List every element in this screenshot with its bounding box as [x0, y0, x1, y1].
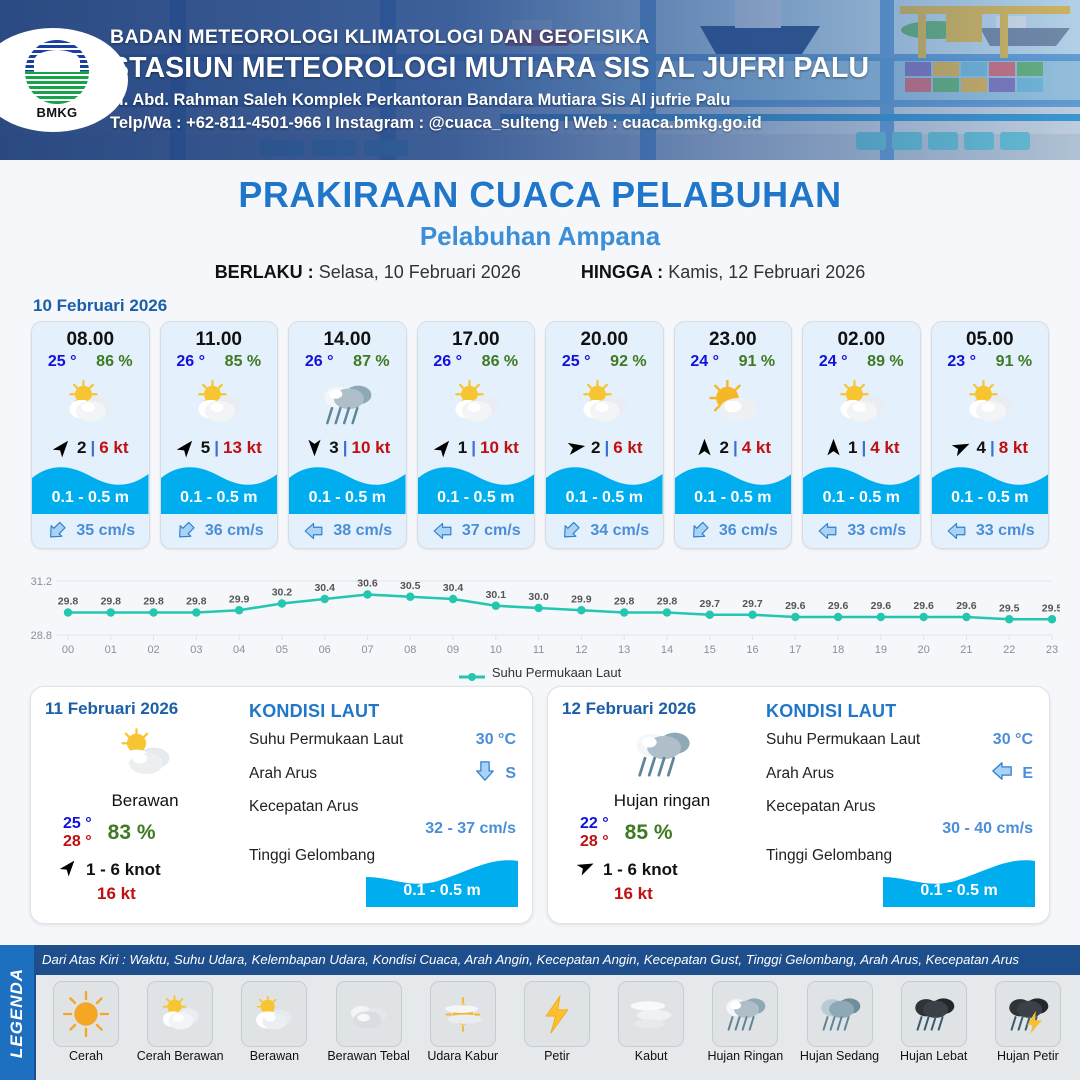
chart-legend: Suhu Permukaan Laut — [0, 665, 1080, 680]
wind-direction-arrow-icon — [576, 857, 596, 882]
svg-text:30.2: 30.2 — [272, 587, 293, 599]
svg-text:05: 05 — [276, 644, 288, 656]
wind-speed-value: 6 kt — [99, 438, 128, 458]
wind-separator: | — [90, 438, 95, 458]
svg-text:19: 19 — [875, 644, 887, 656]
svg-text:28.8: 28.8 — [31, 630, 52, 642]
bmkg-logo-mark — [25, 40, 89, 104]
valid-to-value: Kamis, 12 Februari 2026 — [668, 262, 865, 282]
svg-text:29.8: 29.8 — [143, 596, 164, 608]
card-time: 08.00 — [32, 322, 149, 353]
daily-wind-value: 1 - 6 knot — [603, 860, 678, 880]
page-title: PRAKIRAAN CUACA PELABUHAN — [0, 174, 1080, 216]
card-humidity: 92 % — [610, 353, 646, 371]
current-speed-value: 30 - 40 cm/s — [766, 820, 1033, 838]
card-temperature: 26 ° — [176, 353, 205, 371]
wind-direction-arrow-icon — [304, 437, 325, 458]
card-temp-humidity: 26 ° 85 % — [161, 353, 278, 373]
hourly-card: 20.00 25 ° 92 % 2 | 6 kt 0.1 — [545, 321, 664, 549]
svg-text:30.1: 30.1 — [486, 589, 507, 601]
card-wave: 0.1 - 0.5 m — [675, 462, 792, 514]
svg-text:29.9: 29.9 — [571, 593, 592, 605]
wave-height-value: 0.1 - 0.5 m — [803, 489, 920, 507]
card-current: 35 cm/s — [32, 514, 149, 548]
card-current: 33 cm/s — [803, 514, 920, 548]
lightning-icon — [524, 981, 590, 1047]
svg-text:29.8: 29.8 — [58, 596, 79, 608]
validity-row: BERLAKU : Selasa, 10 Februari 2026 HINGG… — [0, 262, 1080, 283]
current-direction-arrow-icon — [559, 521, 584, 542]
svg-text:01: 01 — [105, 644, 117, 656]
card-current: 36 cm/s — [675, 514, 792, 548]
header-text-block: BADAN METEOROLOGI KLIMATOLOGI DAN GEOFIS… — [110, 26, 869, 133]
valid-to: HINGGA : Kamis, 12 Februari 2026 — [581, 262, 865, 283]
haze-icon — [430, 981, 496, 1047]
card-wave: 0.1 - 0.5 m — [161, 462, 278, 514]
sst-chart: 31.228.829.80029.80129.80229.80329.90430… — [20, 563, 1060, 663]
wave-height-value: 0.1 - 0.5 m — [161, 489, 278, 507]
legend-item: Udara Kabur — [419, 981, 507, 1063]
card-wave: 0.1 - 0.5 m — [289, 462, 406, 514]
svg-text:30.4: 30.4 — [314, 582, 335, 594]
daily-sea-conditions: KONDISI LAUT Suhu Permukaan Laut 30 °C A… — [245, 687, 532, 923]
daily-sea-conditions: KONDISI LAUT Suhu Permukaan Laut 30 °C A… — [762, 687, 1049, 923]
bmkg-logo-text: BMKG — [37, 105, 78, 120]
card-temp-humidity: 23 ° 91 % — [932, 353, 1049, 373]
light-rain-icon — [712, 981, 778, 1047]
legend-item: Berawan Tebal — [325, 981, 413, 1063]
legend-item: Berawan — [230, 981, 318, 1063]
partly-cloudy-icon — [932, 373, 1049, 435]
current-direction-label: Arah Arus — [766, 765, 834, 783]
wind-direction-value: 1 — [848, 438, 857, 458]
daily-wave-graphic: 0.1 - 0.5 m — [883, 859, 1035, 907]
daily-wind-value: 1 - 6 knot — [86, 860, 161, 880]
card-current: 37 cm/s — [418, 514, 535, 548]
current-speed-value: 33 cm/s — [976, 522, 1035, 540]
fog-icon — [618, 981, 684, 1047]
card-temperature: 24 ° — [690, 353, 719, 371]
daily-wave-value: 0.1 - 0.5 m — [883, 882, 1035, 900]
wind-speed-value: 6 kt — [613, 438, 642, 458]
svg-text:29.6: 29.6 — [913, 600, 934, 612]
wave-label: Tinggi Gelombang — [249, 847, 375, 865]
svg-text:29.5: 29.5 — [1042, 602, 1060, 614]
wind-direction-arrow-icon — [566, 437, 587, 458]
current-direction-label: Arah Arus — [249, 765, 317, 783]
wind-separator: | — [990, 438, 995, 458]
legend-item-label: Petir — [513, 1049, 601, 1063]
legend-item-label: Udara Kabur — [419, 1049, 507, 1063]
card-wind: 1 | 10 kt — [418, 435, 535, 462]
partly-cloudy-icon — [546, 373, 663, 435]
svg-text:11: 11 — [533, 644, 544, 656]
wind-speed-value: 13 kt — [223, 438, 262, 458]
legend-section: LEGENDA Dari Atas Kiri : Waktu, Suhu Uda… — [0, 945, 1080, 1080]
header-banner: BMKG BADAN METEOROLOGI KLIMATOLOGI DAN G… — [0, 0, 1080, 160]
page-subtitle: Pelabuhan Ampana — [0, 221, 1080, 252]
current-speed-value: 33 cm/s — [847, 522, 906, 540]
card-humidity: 91 % — [996, 353, 1032, 371]
card-temp-humidity: 25 ° 86 % — [32, 353, 149, 373]
legend-side-label: LEGENDA — [7, 967, 27, 1057]
sst-row: Suhu Permukaan Laut 30 °C — [766, 731, 1033, 749]
daily-forecast-card: 12 Februari 2026 Hujan ringan 22 ° 28 ° … — [547, 686, 1050, 924]
svg-text:30.6: 30.6 — [357, 578, 378, 590]
legend-item: Hujan Sedang — [796, 981, 884, 1063]
daily-temp-max: 28 ° — [580, 833, 609, 851]
wave-height-value: 0.1 - 0.5 m — [289, 489, 406, 507]
hourly-card-list: 08.00 25 ° 86 % 2 | 6 kt 0.1 — [0, 321, 1080, 549]
current-direction-arrow-icon — [302, 521, 327, 542]
station-name: STASIUN METEOROLOGI MUTIARA SIS AL JUFRI… — [110, 52, 869, 85]
current-speed-value: 36 cm/s — [205, 522, 264, 540]
daily-gust-value: 16 kt — [562, 884, 762, 904]
wind-direction-value: 3 — [329, 438, 338, 458]
legend-item-label: Hujan Sedang — [796, 1049, 884, 1063]
mostly-sunny-icon — [675, 373, 792, 435]
wind-direction-arrow-icon — [433, 437, 454, 458]
wind-speed-value: 10 kt — [480, 438, 519, 458]
light-rain-icon — [289, 373, 406, 435]
legend-item-list: Cerah Cerah Berawan Berawan — [36, 975, 1080, 1063]
wind-direction-arrow-icon — [823, 437, 844, 458]
svg-text:20: 20 — [918, 644, 930, 656]
current-direction-arrow-icon — [991, 758, 1013, 789]
svg-text:22: 22 — [1003, 644, 1015, 656]
card-wave: 0.1 - 0.5 m — [546, 462, 663, 514]
legend-item-label: Berawan — [230, 1049, 318, 1063]
daily-date: 12 Februari 2026 — [562, 699, 762, 719]
daily-wave-value: 0.1 - 0.5 m — [366, 882, 518, 900]
current-speed-row: Kecepatan Arus — [249, 798, 516, 816]
card-wind: 2 | 6 kt — [32, 435, 149, 462]
svg-text:02: 02 — [147, 644, 159, 656]
legend-item-label: Berawan Tebal — [325, 1049, 413, 1063]
current-direction-row: Arah Arus E — [766, 758, 1033, 789]
daily-temp-max: 28 ° — [63, 833, 92, 851]
svg-text:04: 04 — [233, 644, 245, 656]
card-current: 33 cm/s — [932, 514, 1049, 548]
svg-text:03: 03 — [190, 644, 202, 656]
card-humidity: 91 % — [739, 353, 775, 371]
sst-row: Suhu Permukaan Laut 30 °C — [249, 731, 516, 749]
legend-note: Dari Atas Kiri : Waktu, Suhu Udara, Kele… — [42, 952, 1074, 967]
card-temp-humidity: 24 ° 89 % — [803, 353, 920, 373]
current-direction-value: S — [505, 765, 516, 783]
card-humidity: 87 % — [353, 353, 389, 371]
card-current: 36 cm/s — [161, 514, 278, 548]
wave-height-value: 0.1 - 0.5 m — [32, 489, 149, 507]
wind-direction-arrow-icon — [176, 437, 197, 458]
svg-text:29.6: 29.6 — [785, 600, 806, 612]
svg-text:31.2: 31.2 — [31, 576, 52, 588]
heavy-rain-icon — [901, 981, 967, 1047]
card-wind: 4 | 8 kt — [932, 435, 1049, 462]
current-direction-arrow-icon — [816, 521, 841, 542]
card-wave: 0.1 - 0.5 m — [803, 462, 920, 514]
svg-text:29.8: 29.8 — [186, 596, 207, 608]
legend-item: Cerah Berawan — [136, 981, 224, 1063]
card-humidity: 86 % — [96, 353, 132, 371]
current-direction-row: Arah Arus S — [249, 758, 516, 789]
svg-text:21: 21 — [960, 644, 972, 656]
current-direction-arrow-icon — [431, 521, 456, 542]
partly-cloudy-icon — [803, 373, 920, 435]
wind-direction-value: 2 — [591, 438, 600, 458]
legend-item: Hujan Petir — [984, 981, 1072, 1063]
partly-cloudy-icon — [418, 373, 535, 435]
wave-height-value: 0.1 - 0.5 m — [546, 489, 663, 507]
legend-item-label: Hujan Lebat — [890, 1049, 978, 1063]
card-temperature: 25 ° — [562, 353, 591, 371]
legend-item-label: Cerah — [42, 1049, 130, 1063]
sea-condition-title: KONDISI LAUT — [249, 701, 516, 722]
card-current: 34 cm/s — [546, 514, 663, 548]
current-speed-value: 36 cm/s — [719, 522, 778, 540]
wind-speed-value: 8 kt — [999, 438, 1028, 458]
sea-condition-title: KONDISI LAUT — [766, 701, 1033, 722]
daily-temp-min: 25 ° — [63, 815, 92, 833]
chart-legend-marker — [459, 669, 485, 677]
svg-text:08: 08 — [404, 644, 416, 656]
legend-item-label: Hujan Ringan — [701, 1049, 789, 1063]
hourly-card: 02.00 24 ° 89 % 1 | 4 kt 0.1 — [802, 321, 921, 549]
current-speed-label: Kecepatan Arus — [766, 798, 875, 816]
card-time: 11.00 — [161, 322, 278, 353]
card-wave: 0.1 - 0.5 m — [418, 462, 535, 514]
card-wave: 0.1 - 0.5 m — [32, 462, 149, 514]
svg-text:29.6: 29.6 — [871, 600, 892, 612]
daily-wave-graphic: 0.1 - 0.5 m — [366, 859, 518, 907]
legend-item: Kabut — [607, 981, 695, 1063]
svg-text:29.9: 29.9 — [229, 593, 250, 605]
wind-direction-arrow-icon — [59, 857, 79, 882]
daily-temp-min: 22 ° — [580, 815, 609, 833]
svg-text:14: 14 — [661, 644, 673, 656]
current-direction-arrow-icon — [45, 521, 70, 542]
hourly-card: 17.00 26 ° 86 % 1 | 10 kt 0.1 — [417, 321, 536, 549]
daily-condition: Berawan — [45, 791, 245, 811]
current-direction-arrow-icon — [945, 521, 970, 542]
legend-side-bar: LEGENDA — [0, 945, 34, 1080]
wind-direction-arrow-icon — [951, 437, 972, 458]
valid-from: BERLAKU : Selasa, 10 Februari 2026 — [215, 262, 521, 283]
wave-height-value: 0.1 - 0.5 m — [932, 489, 1049, 507]
card-time: 17.00 — [418, 322, 535, 353]
wind-separator: | — [733, 438, 738, 458]
partly-cloudy-icon — [32, 373, 149, 435]
svg-text:30.0: 30.0 — [528, 591, 549, 603]
svg-text:29.6: 29.6 — [956, 600, 977, 612]
hourly-date-label: 10 Februari 2026 — [33, 296, 1080, 316]
chart-legend-label: Suhu Permukaan Laut — [492, 665, 621, 680]
svg-text:06: 06 — [319, 644, 331, 656]
wind-direction-value: 4 — [976, 438, 985, 458]
hourly-card: 08.00 25 ° 86 % 2 | 6 kt 0.1 — [31, 321, 150, 549]
current-direction-arrow-icon — [688, 521, 713, 542]
svg-text:09: 09 — [447, 644, 459, 656]
current-speed-label: Kecepatan Arus — [249, 798, 358, 816]
station-address: Jl. Abd. Rahman Saleh Komplek Perkantora… — [110, 91, 869, 110]
hourly-card: 11.00 26 ° 85 % 5 | 13 kt 0.1 — [160, 321, 279, 549]
cloudy-icon — [241, 981, 307, 1047]
daily-forecast-card: 11 Februari 2026 Berawan 25 ° 28 ° 83 % … — [30, 686, 533, 924]
sst-value: 30 °C — [993, 731, 1033, 749]
card-temperature: 26 ° — [433, 353, 462, 371]
svg-text:29.5: 29.5 — [999, 602, 1020, 614]
current-speed-row: Kecepatan Arus — [766, 798, 1033, 816]
card-wind: 3 | 10 kt — [289, 435, 406, 462]
svg-text:18: 18 — [832, 644, 844, 656]
svg-text:00: 00 — [62, 644, 74, 656]
svg-text:29.8: 29.8 — [101, 596, 122, 608]
wind-direction-arrow-icon — [52, 437, 73, 458]
daily-temps: 22 ° 28 ° 85 % — [562, 815, 762, 851]
card-humidity: 89 % — [867, 353, 903, 371]
partly-cloudy-icon — [161, 373, 278, 435]
card-wave: 0.1 - 0.5 m — [932, 462, 1049, 514]
card-temp-humidity: 24 ° 91 % — [675, 353, 792, 373]
valid-to-label: HINGGA : — [581, 262, 663, 282]
svg-text:29.7: 29.7 — [742, 598, 763, 610]
valid-from-value: Selasa, 10 Februari 2026 — [319, 262, 521, 282]
wind-speed-value: 4 kt — [742, 438, 771, 458]
svg-text:07: 07 — [361, 644, 373, 656]
card-time: 14.00 — [289, 322, 406, 353]
card-temp-humidity: 25 ° 92 % — [546, 353, 663, 373]
card-wind: 2 | 6 kt — [546, 435, 663, 462]
wave-height-value: 0.1 - 0.5 m — [418, 489, 535, 507]
legend-item: Hujan Lebat — [890, 981, 978, 1063]
card-time: 20.00 — [546, 322, 663, 353]
card-current: 38 cm/s — [289, 514, 406, 548]
daily-humidity: 85 % — [625, 821, 673, 845]
wind-direction-value: 2 — [77, 438, 86, 458]
svg-text:30.5: 30.5 — [400, 580, 421, 592]
daily-left: 11 Februari 2026 Berawan 25 ° 28 ° 83 % … — [31, 687, 245, 923]
card-humidity: 85 % — [225, 353, 261, 371]
hourly-card: 14.00 26 ° 87 % 3 | 10 kt 0.1 - 0.5 m 38… — [288, 321, 407, 549]
svg-text:10: 10 — [490, 644, 502, 656]
cloudy-icon — [45, 721, 245, 787]
wave-label: Tinggi Gelombang — [766, 847, 892, 865]
legend-item: Cerah — [42, 981, 130, 1063]
sst-label: Suhu Permukaan Laut — [249, 731, 403, 749]
hourly-card: 23.00 24 ° 91 % 2 | 4 kt 0.1 - 0.5 m 36 … — [674, 321, 793, 549]
sun-cloud-icon — [147, 981, 213, 1047]
card-time: 05.00 — [932, 322, 1049, 353]
wind-separator: | — [471, 438, 476, 458]
svg-text:12: 12 — [575, 644, 587, 656]
wind-direction-value: 2 — [719, 438, 728, 458]
card-temperature: 25 ° — [48, 353, 77, 371]
current-direction-group: E — [991, 758, 1033, 789]
wind-separator: | — [214, 438, 219, 458]
svg-text:17: 17 — [789, 644, 801, 656]
card-temperature: 26 ° — [305, 353, 334, 371]
card-wind: 5 | 13 kt — [161, 435, 278, 462]
wind-separator: | — [861, 438, 866, 458]
daily-condition: Hujan ringan — [562, 791, 762, 811]
svg-text:23: 23 — [1046, 644, 1058, 656]
current-direction-value: E — [1022, 765, 1033, 783]
svg-text:29.6: 29.6 — [828, 600, 849, 612]
daily-wind: 1 - 6 knot — [45, 857, 245, 882]
wind-separator: | — [604, 438, 609, 458]
svg-text:30.4: 30.4 — [443, 582, 464, 594]
legend-item-label: Kabut — [607, 1049, 695, 1063]
daily-temps: 25 ° 28 ° 83 % — [45, 815, 245, 851]
daily-wind: 1 - 6 knot — [562, 857, 762, 882]
svg-text:15: 15 — [704, 644, 716, 656]
legend-item: Hujan Ringan — [701, 981, 789, 1063]
current-direction-arrow-icon — [174, 521, 199, 542]
sst-label: Suhu Permukaan Laut — [766, 731, 920, 749]
title-section: PRAKIRAAN CUACA PELABUHAN Pelabuhan Ampa… — [0, 174, 1080, 283]
current-speed-value: 38 cm/s — [333, 522, 392, 540]
svg-text:29.8: 29.8 — [657, 596, 678, 608]
card-time: 02.00 — [803, 322, 920, 353]
current-direction-group: S — [474, 758, 516, 789]
svg-text:29.8: 29.8 — [614, 596, 635, 608]
sst-value: 30 °C — [476, 731, 516, 749]
card-temperature: 24 ° — [819, 353, 848, 371]
current-speed-value: 35 cm/s — [76, 522, 135, 540]
daily-card-list: 11 Februari 2026 Berawan 25 ° 28 ° 83 % … — [0, 680, 1080, 924]
infographic-page: BMKG BADAN METEOROLOGI KLIMATOLOGI DAN G… — [0, 0, 1080, 1080]
wind-direction-arrow-icon — [694, 437, 715, 458]
legend-panel: Cerah Cerah Berawan Berawan — [36, 975, 1080, 1080]
station-contact: Telp/Wa : +62-811-4501-966 I Instagram :… — [110, 114, 869, 133]
agency-name: BADAN METEOROLOGI KLIMATOLOGI DAN GEOFIS… — [110, 26, 869, 49]
hourly-card: 05.00 23 ° 91 % 4 | 8 kt 0.1 — [931, 321, 1050, 549]
light-rain-icon — [562, 721, 762, 787]
svg-text:29.7: 29.7 — [700, 598, 721, 610]
daily-left: 12 Februari 2026 Hujan ringan 22 ° 28 ° … — [548, 687, 762, 923]
svg-text:13: 13 — [618, 644, 630, 656]
wind-speed-value: 10 kt — [351, 438, 390, 458]
wave-height-value: 0.1 - 0.5 m — [675, 489, 792, 507]
wind-speed-value: 4 kt — [870, 438, 899, 458]
card-temp-humidity: 26 ° 86 % — [418, 353, 535, 373]
legend-item-label: Hujan Petir — [984, 1049, 1072, 1063]
legend-item-label: Cerah Berawan — [136, 1049, 224, 1063]
thunderstorm-icon — [995, 981, 1061, 1047]
daily-gust-value: 16 kt — [45, 884, 245, 904]
sst-chart-svg: 31.228.829.80029.80129.80229.80329.90430… — [20, 563, 1060, 663]
current-speed-value: 37 cm/s — [462, 522, 521, 540]
daily-humidity: 83 % — [108, 821, 156, 845]
card-wind: 1 | 4 kt — [803, 435, 920, 462]
card-time: 23.00 — [675, 322, 792, 353]
valid-from-label: BERLAKU : — [215, 262, 314, 282]
card-temperature: 23 ° — [947, 353, 976, 371]
wind-direction-value: 5 — [201, 438, 210, 458]
current-speed-value: 34 cm/s — [590, 522, 649, 540]
svg-text:16: 16 — [746, 644, 758, 656]
current-direction-arrow-icon — [474, 758, 496, 789]
sun-icon — [53, 981, 119, 1047]
card-humidity: 86 % — [482, 353, 518, 371]
card-temp-humidity: 26 ° 87 % — [289, 353, 406, 373]
wind-direction-value: 1 — [458, 438, 467, 458]
moderate-rain-icon — [807, 981, 873, 1047]
legend-item: Petir — [513, 981, 601, 1063]
card-wind: 2 | 4 kt — [675, 435, 792, 462]
overcast-icon — [336, 981, 402, 1047]
daily-date: 11 Februari 2026 — [45, 699, 245, 719]
